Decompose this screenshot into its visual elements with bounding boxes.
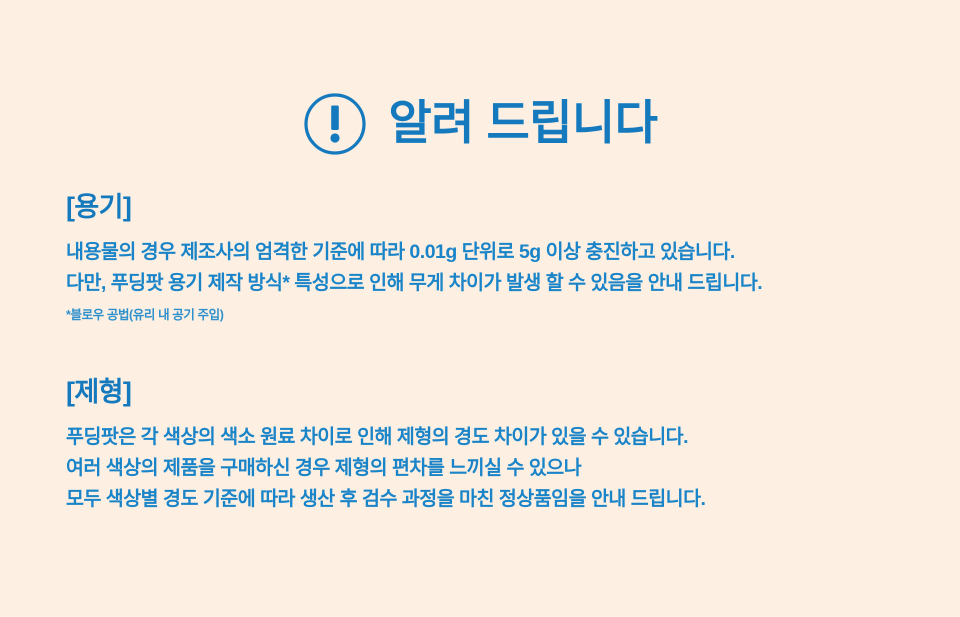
section-container-footnote: *블로우 공법(유리 내 공기 주입) [66, 308, 926, 323]
section-container: [용기] 내용물의 경우 제조사의 엄격한 기준에 따라 0.01g 단위로 5… [66, 192, 926, 323]
body-line: 여러 색상의 제품을 구매하신 경우 제형의 편차를 느끼실 수 있으나 [66, 453, 926, 484]
body-line: 푸딩팟은 각 색상의 색소 원료 차이로 인해 제형의 경도 차이가 있을 수 … [66, 422, 926, 453]
page-title: 알려 드립니다 [389, 99, 658, 146]
section-heading-container: [용기] [66, 192, 926, 223]
notice-header: 알려 드립니다 [0, 92, 960, 156]
section-heading-texture: [제형] [66, 377, 926, 408]
section-texture: [제형] 푸딩팟은 각 색상의 색소 원료 차이로 인해 제형의 경도 차이가 … [66, 377, 926, 515]
body-line: 내용물의 경우 제조사의 엄격한 기준에 따라 0.01g 단위로 5g 이상 … [66, 237, 926, 268]
notice-banner: 알려 드립니다 [용기] 내용물의 경우 제조사의 엄격한 기준에 따라 0.0… [0, 0, 960, 617]
exclamation-circle-icon [303, 92, 367, 156]
body-line: 모두 색상별 경도 기준에 따라 생산 후 검수 과정을 마친 정상품임을 안내… [66, 484, 926, 515]
body-line: 다만, 푸딩팟 용기 제작 방식* 특성으로 인해 무게 차이가 발생 할 수 … [66, 268, 926, 299]
section-container-body: 내용물의 경우 제조사의 엄격한 기준에 따라 0.01g 단위로 5g 이상 … [66, 237, 926, 299]
section-texture-body: 푸딩팟은 각 색상의 색소 원료 차이로 인해 제형의 경도 차이가 있을 수 … [66, 422, 926, 515]
